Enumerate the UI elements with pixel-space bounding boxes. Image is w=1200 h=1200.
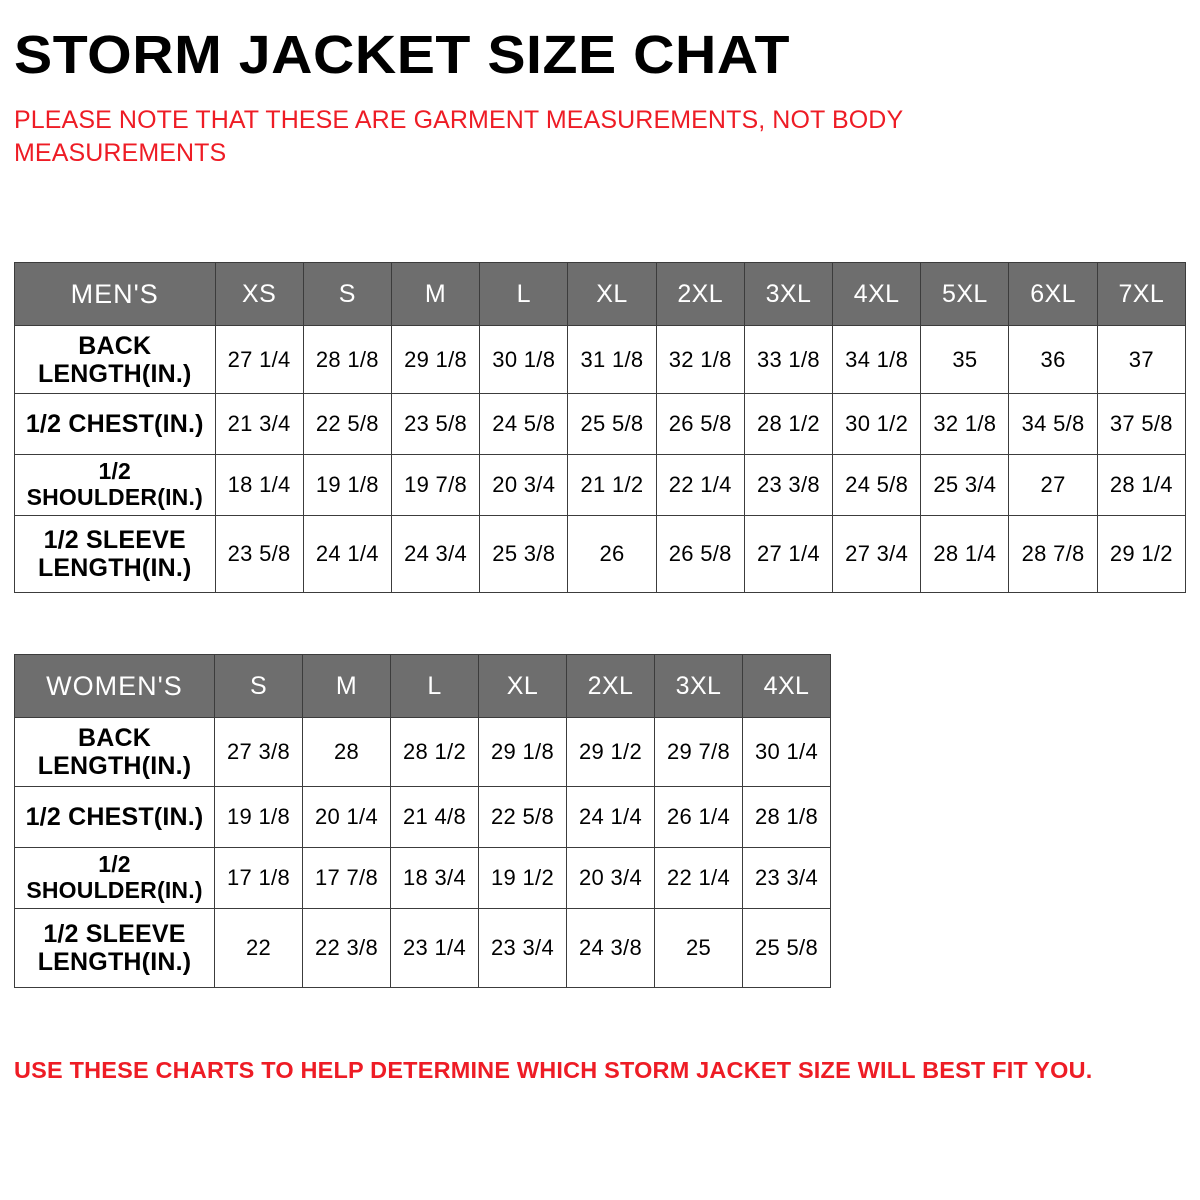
cell-value: 24 5/8	[833, 455, 921, 516]
mens-col-header-7xl: 7XL	[1097, 263, 1185, 326]
mens-table-body: BACK LENGTH(IN.) 27 1/4 28 1/8 29 1/8 30…	[15, 326, 1186, 593]
cell-value: 35	[921, 326, 1009, 394]
cell-value: 28 1/4	[1097, 455, 1185, 516]
womens-size-table: WOMEN'S S M L XL 2XL 3XL 4XL BACK LENGTH…	[14, 654, 831, 988]
cell-value: 27 3/8	[215, 718, 303, 787]
cell-value: 29 1/2	[1097, 516, 1185, 593]
cell-value: 26 5/8	[656, 394, 744, 455]
cell-value: 24 5/8	[480, 394, 568, 455]
mens-row-label-half-chest: 1/2 CHEST(IN.)	[15, 394, 216, 455]
mens-row-label-half-shoulder: 1/2 SHOULDER(IN.)	[15, 455, 216, 516]
cell-value: 28 7/8	[1009, 516, 1097, 593]
mens-col-header-xl: XL	[568, 263, 656, 326]
cell-value: 22 3/8	[303, 909, 391, 988]
cell-value: 17 1/8	[215, 848, 303, 909]
womens-col-header-3xl: 3XL	[655, 655, 743, 718]
cell-value: 30 1/8	[480, 326, 568, 394]
womens-col-header-4xl: 4XL	[743, 655, 831, 718]
cell-value: 25 3/8	[480, 516, 568, 593]
cell-value: 21 1/2	[568, 455, 656, 516]
cell-value: 32 1/8	[656, 326, 744, 394]
mens-header-row: MEN'S XS S M L XL 2XL 3XL 4XL 5XL 6XL 7X…	[15, 263, 1186, 326]
cell-value: 26 5/8	[656, 516, 744, 593]
womens-corner-header: WOMEN'S	[15, 655, 215, 718]
cell-value: 20 3/4	[480, 455, 568, 516]
cell-value: 26 1/4	[655, 787, 743, 848]
mens-row-label-half-sleeve-length: 1/2 SLEEVE LENGTH(IN.)	[15, 516, 216, 593]
cell-value: 21 4/8	[391, 787, 479, 848]
mens-col-header-2xl: 2XL	[656, 263, 744, 326]
mens-col-header-s: S	[303, 263, 391, 326]
row-label-line1: BACK	[78, 724, 151, 752]
cell-value: 20 1/4	[303, 787, 391, 848]
cell-value: 25 5/8	[568, 394, 656, 455]
womens-col-header-xl: XL	[479, 655, 567, 718]
row-label-line1: BACK	[78, 332, 151, 360]
cell-value: 21 3/4	[215, 394, 303, 455]
cell-value: 28	[303, 718, 391, 787]
cell-value: 27	[1009, 455, 1097, 516]
row-label-line2: LENGTH(IN.)	[38, 948, 192, 976]
cell-value: 22 5/8	[479, 787, 567, 848]
mens-col-header-6xl: 6XL	[1009, 263, 1097, 326]
size-chart-page: STORM JACKET SIZE CHAT PLEASE NOTE THAT …	[0, 0, 1200, 1200]
mens-size-table: MEN'S XS S M L XL 2XL 3XL 4XL 5XL 6XL 7X…	[14, 262, 1186, 593]
cell-value: 24 1/4	[567, 787, 655, 848]
womens-header-row: WOMEN'S S M L XL 2XL 3XL 4XL	[15, 655, 831, 718]
womens-col-header-s: S	[215, 655, 303, 718]
cell-value: 28 1/8	[303, 326, 391, 394]
table-row: 1/2 SHOULDER(IN.) 18 1/4 19 1/8 19 7/8 2…	[15, 455, 1186, 516]
cell-value: 19 1/8	[215, 787, 303, 848]
cell-value: 27 1/4	[215, 326, 303, 394]
womens-col-header-m: M	[303, 655, 391, 718]
cell-value: 23 3/8	[744, 455, 832, 516]
cell-value: 23 5/8	[391, 394, 479, 455]
cell-value: 17 7/8	[303, 848, 391, 909]
cell-value: 25 5/8	[743, 909, 831, 988]
table-row: 1/2 SLEEVE LENGTH(IN.) 23 5/8 24 1/4 24 …	[15, 516, 1186, 593]
table-row: 1/2 SHOULDER(IN.) 17 1/8 17 7/8 18 3/4 1…	[15, 848, 831, 909]
table-row: 1/2 CHEST(IN.) 19 1/8 20 1/4 21 4/8 22 5…	[15, 787, 831, 848]
cell-value: 23 5/8	[215, 516, 303, 593]
cell-value: 19 1/8	[303, 455, 391, 516]
row-label-line2: LENGTH(IN.)	[38, 554, 192, 582]
cell-value: 24 3/8	[567, 909, 655, 988]
cell-value: 23 1/4	[391, 909, 479, 988]
row-label-line1: 1/2 SLEEVE	[43, 920, 185, 948]
cell-value: 19 1/2	[479, 848, 567, 909]
cell-value: 28 1/8	[743, 787, 831, 848]
cell-value: 25 3/4	[921, 455, 1009, 516]
garment-measurement-note: PLEASE NOTE THAT THESE ARE GARMENT MEASU…	[14, 82, 974, 170]
fit-guidance-note: USE THESE CHARTS TO HELP DETERMINE WHICH…	[14, 1056, 1092, 1086]
womens-row-label-half-sleeve-length: 1/2 SLEEVE LENGTH(IN.)	[15, 909, 215, 988]
cell-value: 23 3/4	[743, 848, 831, 909]
cell-value: 22 1/4	[655, 848, 743, 909]
mens-col-header-4xl: 4XL	[833, 263, 921, 326]
cell-value: 29 1/8	[479, 718, 567, 787]
cell-value: 29 1/2	[567, 718, 655, 787]
cell-value: 34 5/8	[1009, 394, 1097, 455]
cell-value: 22 5/8	[303, 394, 391, 455]
cell-value: 19 7/8	[391, 455, 479, 516]
mens-col-header-m: M	[391, 263, 479, 326]
mens-corner-header: MEN'S	[15, 263, 216, 326]
cell-value: 22 1/4	[656, 455, 744, 516]
cell-value: 36	[1009, 326, 1097, 394]
mens-col-header-3xl: 3XL	[744, 263, 832, 326]
cell-value: 24 1/4	[303, 516, 391, 593]
womens-row-label-half-shoulder: 1/2 SHOULDER(IN.)	[15, 848, 215, 909]
cell-value: 37 5/8	[1097, 394, 1185, 455]
cell-value: 22	[215, 909, 303, 988]
cell-value: 24 3/4	[391, 516, 479, 593]
mens-table-head: MEN'S XS S M L XL 2XL 3XL 4XL 5XL 6XL 7X…	[15, 263, 1186, 326]
cell-value: 26	[568, 516, 656, 593]
cell-value: 18 3/4	[391, 848, 479, 909]
womens-col-header-2xl: 2XL	[567, 655, 655, 718]
cell-value: 30 1/4	[743, 718, 831, 787]
mens-col-header-xs: XS	[215, 263, 303, 326]
row-label-line2: LENGTH(IN.)	[38, 360, 192, 388]
cell-value: 28 1/4	[921, 516, 1009, 593]
table-row: 1/2 SLEEVE LENGTH(IN.) 22 22 3/8 23 1/4 …	[15, 909, 831, 988]
table-row: 1/2 CHEST(IN.) 21 3/4 22 5/8 23 5/8 24 5…	[15, 394, 1186, 455]
cell-value: 33 1/8	[744, 326, 832, 394]
womens-col-header-l: L	[391, 655, 479, 718]
cell-value: 28 1/2	[744, 394, 832, 455]
mens-col-header-5xl: 5XL	[921, 263, 1009, 326]
cell-value: 34 1/8	[833, 326, 921, 394]
womens-table-head: WOMEN'S S M L XL 2XL 3XL 4XL	[15, 655, 831, 718]
cell-value: 20 3/4	[567, 848, 655, 909]
cell-value: 31 1/8	[568, 326, 656, 394]
page-title: STORM JACKET SIZE CHAT	[14, 0, 1200, 82]
cell-value: 30 1/2	[833, 394, 921, 455]
table-row: BACK LENGTH(IN.) 27 1/4 28 1/8 29 1/8 30…	[15, 326, 1186, 394]
row-label-line2: LENGTH(IN.)	[38, 752, 192, 780]
row-label-line1: 1/2 SLEEVE	[44, 526, 186, 554]
cell-value: 25	[655, 909, 743, 988]
mens-row-label-back-length: BACK LENGTH(IN.)	[15, 326, 216, 394]
cell-value: 28 1/2	[391, 718, 479, 787]
womens-table-body: BACK LENGTH(IN.) 27 3/8 28 28 1/2 29 1/8…	[15, 718, 831, 988]
table-row: BACK LENGTH(IN.) 27 3/8 28 28 1/2 29 1/8…	[15, 718, 831, 787]
cell-value: 29 1/8	[391, 326, 479, 394]
womens-row-label-half-chest: 1/2 CHEST(IN.)	[15, 787, 215, 848]
mens-col-header-l: L	[480, 263, 568, 326]
cell-value: 37	[1097, 326, 1185, 394]
cell-value: 32 1/8	[921, 394, 1009, 455]
womens-row-label-back-length: BACK LENGTH(IN.)	[15, 718, 215, 787]
cell-value: 29 7/8	[655, 718, 743, 787]
cell-value: 27 1/4	[744, 516, 832, 593]
cell-value: 27 3/4	[833, 516, 921, 593]
cell-value: 23 3/4	[479, 909, 567, 988]
cell-value: 18 1/4	[215, 455, 303, 516]
